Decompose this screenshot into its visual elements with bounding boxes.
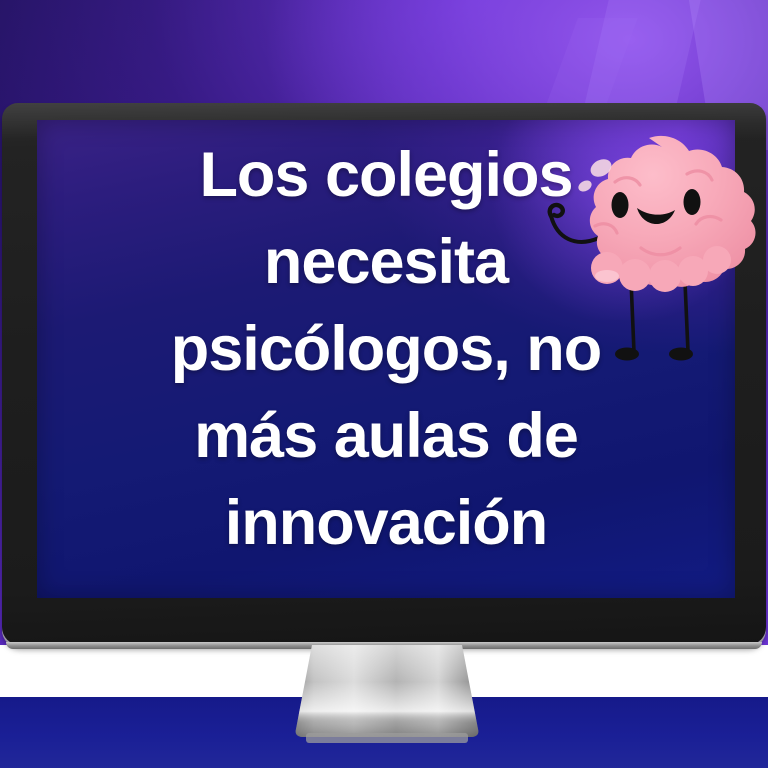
monitor: Los colegios necesita psicólogos, no más…	[0, 103, 768, 648]
monitor-bezel: Los colegios necesita psicólogos, no más…	[2, 103, 766, 645]
poster-canvas: Los colegios necesita psicólogos, no más…	[0, 0, 768, 768]
monitor-screen: Los colegios necesita psicólogos, no más…	[37, 120, 735, 598]
headline-text: Los colegios necesita psicólogos, no más…	[37, 132, 735, 567]
monitor-stand	[282, 645, 492, 745]
